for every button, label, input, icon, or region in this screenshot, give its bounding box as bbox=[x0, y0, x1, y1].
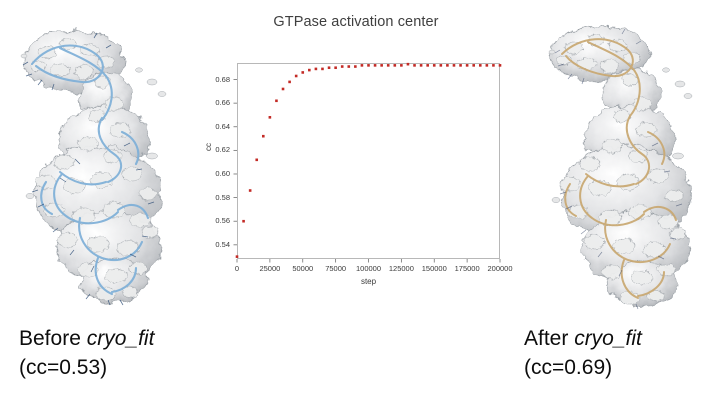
y-tick-label: 0.60 bbox=[204, 169, 230, 178]
x-axis-title: step bbox=[237, 277, 500, 286]
data-points bbox=[236, 63, 502, 258]
data-point bbox=[394, 64, 397, 67]
data-point bbox=[367, 64, 370, 67]
caption-after-program: cryo_fit bbox=[574, 327, 642, 350]
y-axis-title: cc bbox=[204, 143, 213, 151]
data-point bbox=[492, 64, 495, 67]
data-point bbox=[354, 65, 357, 68]
y-tick-label: 0.66 bbox=[204, 98, 230, 107]
caption-after-line1: After cryo_fit bbox=[524, 325, 642, 354]
cc-vs-step-chart: GTPase activation center 0.540.560.580.6… bbox=[206, 8, 506, 293]
data-point bbox=[295, 75, 298, 78]
data-point bbox=[472, 64, 475, 67]
density-surface bbox=[550, 26, 691, 306]
caption-after: After cryo_fit (cc=0.69) bbox=[524, 325, 642, 383]
caption-after-cc: (cc=0.69) bbox=[524, 354, 642, 383]
plot-canvas bbox=[206, 8, 506, 293]
data-point bbox=[499, 64, 502, 67]
y-tick-label: 0.56 bbox=[204, 216, 230, 225]
data-point bbox=[275, 99, 278, 102]
caption-before-cc: (cc=0.53) bbox=[19, 354, 154, 383]
data-point bbox=[282, 88, 285, 91]
data-point bbox=[301, 71, 304, 74]
data-point bbox=[374, 64, 377, 67]
data-point bbox=[446, 64, 449, 67]
data-point bbox=[334, 66, 337, 69]
data-point bbox=[400, 64, 403, 67]
data-point bbox=[347, 65, 350, 68]
data-point bbox=[413, 64, 416, 67]
data-point bbox=[321, 68, 324, 71]
data-point bbox=[262, 135, 265, 138]
cryo-em-model-after bbox=[512, 4, 720, 322]
data-point bbox=[433, 64, 436, 67]
caption-before-program: cryo_fit bbox=[87, 327, 155, 350]
data-point bbox=[361, 64, 364, 67]
data-point bbox=[236, 255, 239, 258]
figure-canvas: GTPase activation center 0.540.560.580.6… bbox=[0, 0, 720, 409]
data-point bbox=[479, 64, 482, 67]
y-tick-label: 0.68 bbox=[204, 75, 230, 84]
caption-before-prefix: Before bbox=[19, 327, 87, 350]
data-point bbox=[308, 69, 311, 72]
y-tick-label: 0.54 bbox=[204, 240, 230, 249]
axis-ticks bbox=[234, 80, 501, 263]
data-point bbox=[387, 64, 390, 67]
data-point bbox=[341, 65, 344, 68]
data-point bbox=[328, 66, 331, 69]
data-point bbox=[242, 220, 245, 223]
data-point bbox=[459, 64, 462, 67]
data-point bbox=[420, 64, 423, 67]
caption-before: Before cryo_fit (cc=0.53) bbox=[19, 325, 154, 383]
data-point bbox=[255, 159, 258, 162]
data-point bbox=[380, 64, 383, 67]
data-point bbox=[407, 63, 410, 66]
data-point bbox=[269, 116, 272, 119]
y-tick-label: 0.64 bbox=[204, 122, 230, 131]
data-point bbox=[466, 64, 469, 67]
caption-before-line1: Before cryo_fit bbox=[19, 325, 154, 354]
caption-after-prefix: After bbox=[524, 327, 574, 350]
data-point bbox=[426, 64, 429, 67]
data-point bbox=[486, 64, 489, 67]
data-point bbox=[453, 64, 456, 67]
cryo-em-model-before bbox=[2, 4, 212, 322]
y-tick-label: 0.58 bbox=[204, 193, 230, 202]
data-point bbox=[315, 68, 318, 71]
data-point bbox=[440, 64, 443, 67]
data-point bbox=[288, 81, 291, 84]
data-point bbox=[249, 189, 252, 192]
